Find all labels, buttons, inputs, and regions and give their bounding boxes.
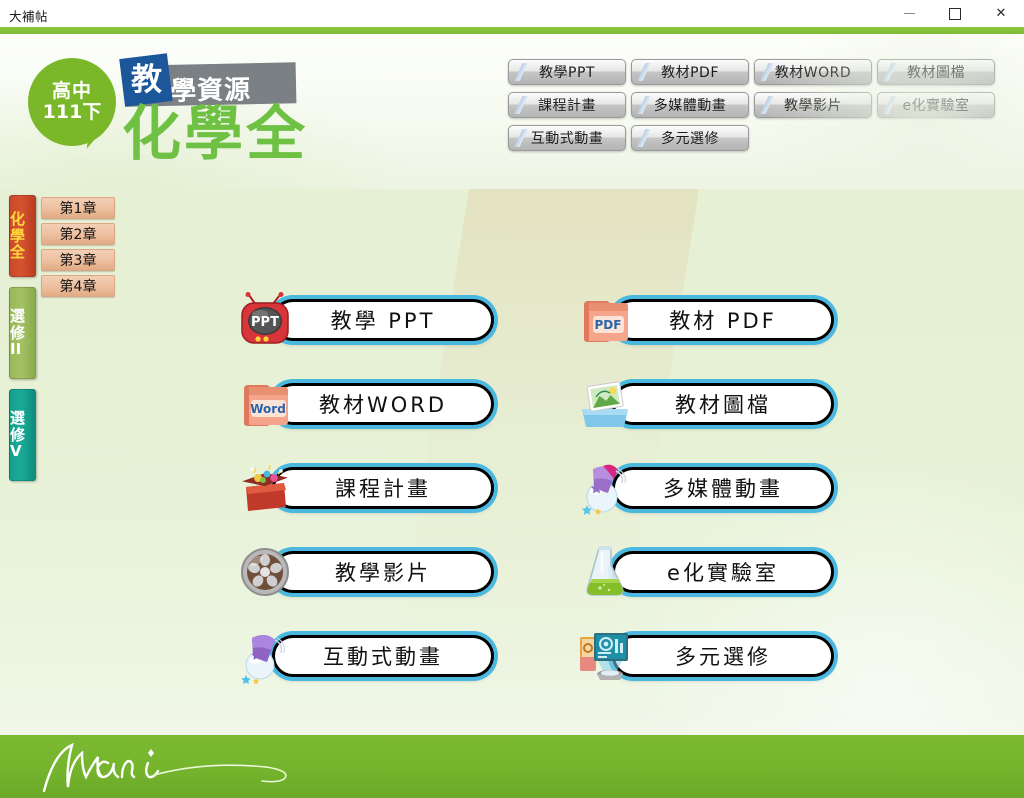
slash-icon	[514, 96, 528, 114]
resource-menu: PPT 教學 PPT	[236, 289, 876, 709]
window-title: 大補帖	[9, 6, 48, 25]
menu-item-multimedia-animation[interactable]: 多媒體動畫	[576, 457, 838, 519]
menu-item-label: 互動式動畫	[323, 641, 443, 671]
sidebar-tab-label: 選修II	[10, 308, 35, 358]
quick-link-label: 教學PPT	[539, 62, 595, 82]
sidebar-tab-elective-5[interactable]: 選修V	[9, 389, 36, 481]
menu-row: 互動式動畫	[236, 625, 876, 687]
quick-link-ppt[interactable]: 教學PPT	[508, 59, 626, 85]
menu-item-label: 教材圖檔	[675, 389, 771, 419]
svg-text:PDF: PDF	[595, 318, 622, 332]
application-window: 大補帖 高中 111下 學資源 教 化學全 教學PPT 教材PDF	[0, 0, 1024, 798]
quick-link-label: 教材PDF	[661, 62, 719, 82]
magic-hat-icon	[236, 627, 294, 685]
quick-link-elab[interactable]: e化實驗室	[877, 92, 995, 118]
menu-row: 教學影片	[236, 541, 876, 603]
quick-link-label: 教學影片	[784, 95, 842, 115]
quick-links-grid: 教學PPT 教材PDF 教材WORD 教材圖檔 課程計畫 多媒體動畫 教學影片 …	[508, 59, 995, 151]
menu-row: PPT 教學 PPT	[236, 289, 876, 351]
magic-hat-ball-icon	[576, 459, 634, 517]
menu-item-material-pdf[interactable]: PDF 教材 PDF	[576, 289, 838, 351]
word-folder-icon: Word	[236, 375, 294, 433]
main-content: 化學全 選修II 選修V 第1章 第2章 第3章 第4章	[0, 189, 1024, 735]
menu-item-multiple-electives[interactable]: 多元選修	[576, 625, 838, 687]
svg-text:Word: Word	[250, 402, 286, 416]
slash-icon	[883, 63, 897, 81]
window-controls	[886, 0, 1024, 27]
title-bar: 大補帖	[0, 0, 1024, 27]
svg-text:PPT: PPT	[251, 315, 279, 330]
menu-item-pill: 教材 PDF	[612, 299, 834, 341]
menu-item-label: 多媒體動畫	[663, 473, 783, 503]
maximize-icon[interactable]	[932, 0, 978, 27]
menu-item-label: 多元選修	[675, 641, 771, 671]
footer-bar: 建議使用office 2007 以上版本 服務中心 回首頁	[0, 735, 1024, 798]
menu-item-pill: 多媒體動畫	[612, 467, 834, 509]
slash-icon	[637, 129, 651, 147]
page-title: 化學全	[122, 104, 308, 163]
quick-link-syllabus[interactable]: 課程計畫	[508, 92, 626, 118]
bubble-tail-icon	[87, 129, 109, 151]
quick-link-label: 教材WORD	[775, 62, 851, 82]
menu-item-label: 課程計畫	[335, 473, 431, 503]
chapter-button-4[interactable]: 第4章	[41, 275, 115, 297]
menu-item-pill: 教學 PPT	[272, 299, 494, 341]
quick-link-video[interactable]: 教學影片	[754, 92, 872, 118]
projector-screen-icon	[576, 627, 634, 685]
menu-item-pill: 教材圖檔	[612, 383, 834, 425]
slash-icon	[637, 96, 651, 114]
menu-item-label: 教材WORD	[319, 389, 447, 419]
quick-link-elective[interactable]: 多元選修	[631, 125, 749, 151]
close-icon[interactable]	[978, 0, 1024, 27]
menu-item-label: e化實驗室	[667, 557, 779, 587]
minimize-icon[interactable]	[886, 0, 932, 27]
quick-link-label: e化實驗室	[902, 95, 969, 115]
chapter-list: 第1章 第2章 第3章 第4章	[41, 197, 115, 301]
quick-link-label: 多媒體動畫	[654, 95, 727, 115]
quick-link-label: 多元選修	[661, 128, 719, 148]
nani-brand-logo	[36, 737, 326, 795]
slash-icon	[637, 63, 651, 81]
quick-link-label: 互動式動畫	[531, 128, 604, 148]
menu-item-teaching-video[interactable]: 教學影片	[236, 541, 498, 603]
subject-tabs: 化學全 選修II 選修V	[9, 195, 36, 491]
menu-item-pill: 教學影片	[272, 551, 494, 593]
grade-line-2: 111下	[43, 102, 102, 123]
quick-link-interactive[interactable]: 互動式動畫	[508, 125, 626, 151]
product-logo: 高中 111下 學資源 教 化學全	[22, 48, 322, 183]
slash-icon	[760, 96, 774, 114]
menu-item-label: 教學 PPT	[331, 305, 436, 335]
sidebar-tab-elective-2[interactable]: 選修II	[9, 287, 36, 379]
grade-line-1: 高中	[52, 81, 92, 102]
menu-row: Word 教材WORD	[236, 373, 876, 435]
chapter-button-2[interactable]: 第2章	[41, 223, 115, 245]
quick-link-word[interactable]: 教材WORD	[754, 59, 872, 85]
slash-icon	[760, 63, 774, 81]
menu-item-pill: 課程計畫	[272, 467, 494, 509]
pdf-folder-icon: PDF	[576, 291, 634, 349]
menu-item-label: 教學影片	[335, 557, 431, 587]
menu-item-pill: 互動式動畫	[272, 635, 494, 677]
gift-box-icon	[236, 459, 294, 517]
photo-tray-icon	[576, 375, 634, 433]
menu-item-pill: e化實驗室	[612, 551, 834, 593]
quick-link-label: 教材圖檔	[907, 62, 965, 82]
header-banner: 高中 111下 學資源 教 化學全 教學PPT 教材PDF 教材WORD 教材圖…	[0, 34, 1024, 189]
sidebar-tab-chemistry[interactable]: 化學全	[9, 195, 36, 277]
sidebar-tab-label: 化學全	[10, 211, 35, 261]
menu-item-pill: 多元選修	[612, 635, 834, 677]
chapter-button-3[interactable]: 第3章	[41, 249, 115, 271]
top-green-rule	[0, 27, 1024, 34]
flask-icon	[576, 543, 634, 601]
menu-item-pill: 教材WORD	[272, 383, 494, 425]
menu-item-course-plan[interactable]: 課程計畫	[236, 457, 498, 519]
quick-link-images[interactable]: 教材圖檔	[877, 59, 995, 85]
slash-icon	[514, 129, 528, 147]
film-reel-icon	[236, 543, 294, 601]
quick-link-multimedia[interactable]: 多媒體動畫	[631, 92, 749, 118]
quick-link-label: 課程計畫	[538, 95, 596, 115]
slash-icon	[514, 63, 528, 81]
quick-link-pdf[interactable]: 教材PDF	[631, 59, 749, 85]
sidebar-tab-label: 選修V	[10, 410, 35, 460]
menu-item-e-lab[interactable]: e化實驗室	[576, 541, 838, 603]
teach-badge-label: 教	[131, 65, 162, 96]
slash-icon	[883, 96, 897, 114]
menu-item-teaching-ppt[interactable]: PPT 教學 PPT	[236, 289, 498, 351]
menu-item-interactive-animation[interactable]: 互動式動畫	[236, 625, 498, 687]
menu-item-material-images[interactable]: 教材圖檔	[576, 373, 838, 435]
menu-item-label: 教材 PDF	[669, 305, 777, 335]
chapter-button-1[interactable]: 第1章	[41, 197, 115, 219]
menu-item-material-word[interactable]: Word 教材WORD	[236, 373, 498, 435]
menu-row: 課程計畫	[236, 457, 876, 519]
tv-ppt-icon: PPT	[236, 291, 294, 349]
